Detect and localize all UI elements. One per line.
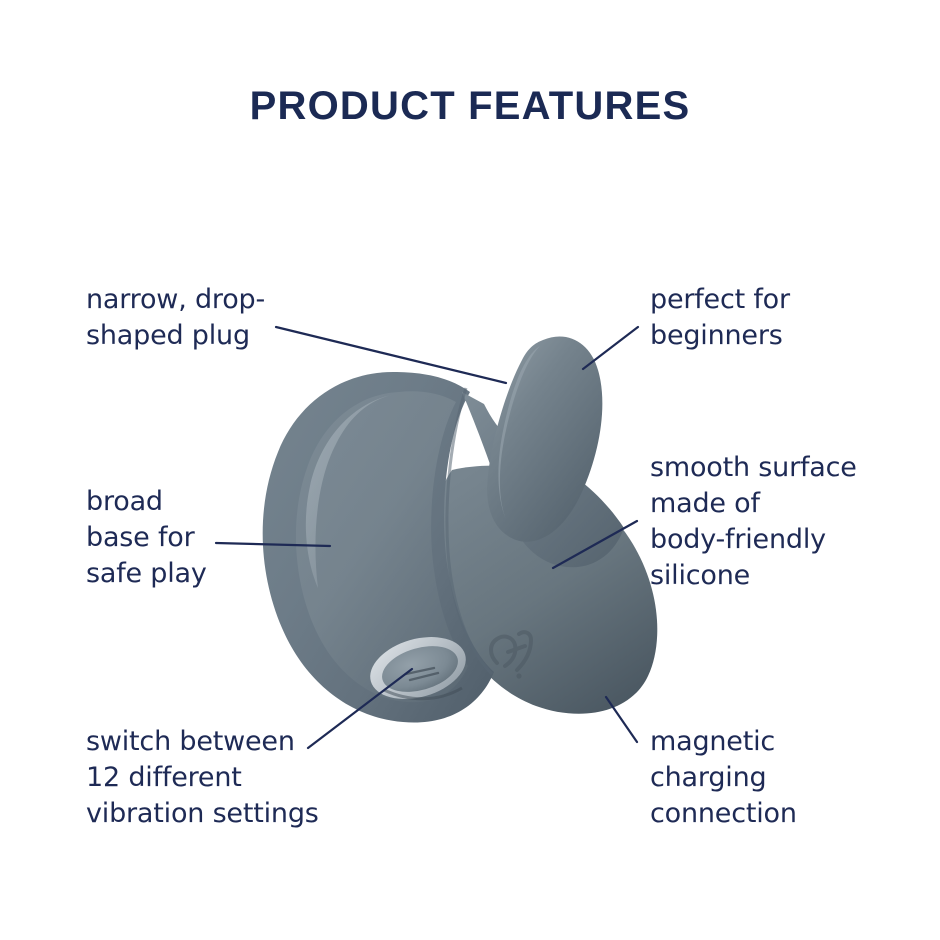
callout-narrow-plug: narrow, drop- shaped plug: [86, 282, 356, 354]
product-features-infographic: PRODUCT FEATURES: [0, 0, 940, 940]
callout-magnetic: magnetic charging connection: [650, 724, 900, 832]
callout-beginners: perfect for beginners: [650, 282, 900, 354]
callout-smooth: smooth surface made of body-friendly sil…: [650, 450, 910, 594]
callout-switch: switch between 12 different vibration se…: [86, 724, 386, 832]
callout-broad-base: broad base for safe play: [86, 484, 306, 592]
